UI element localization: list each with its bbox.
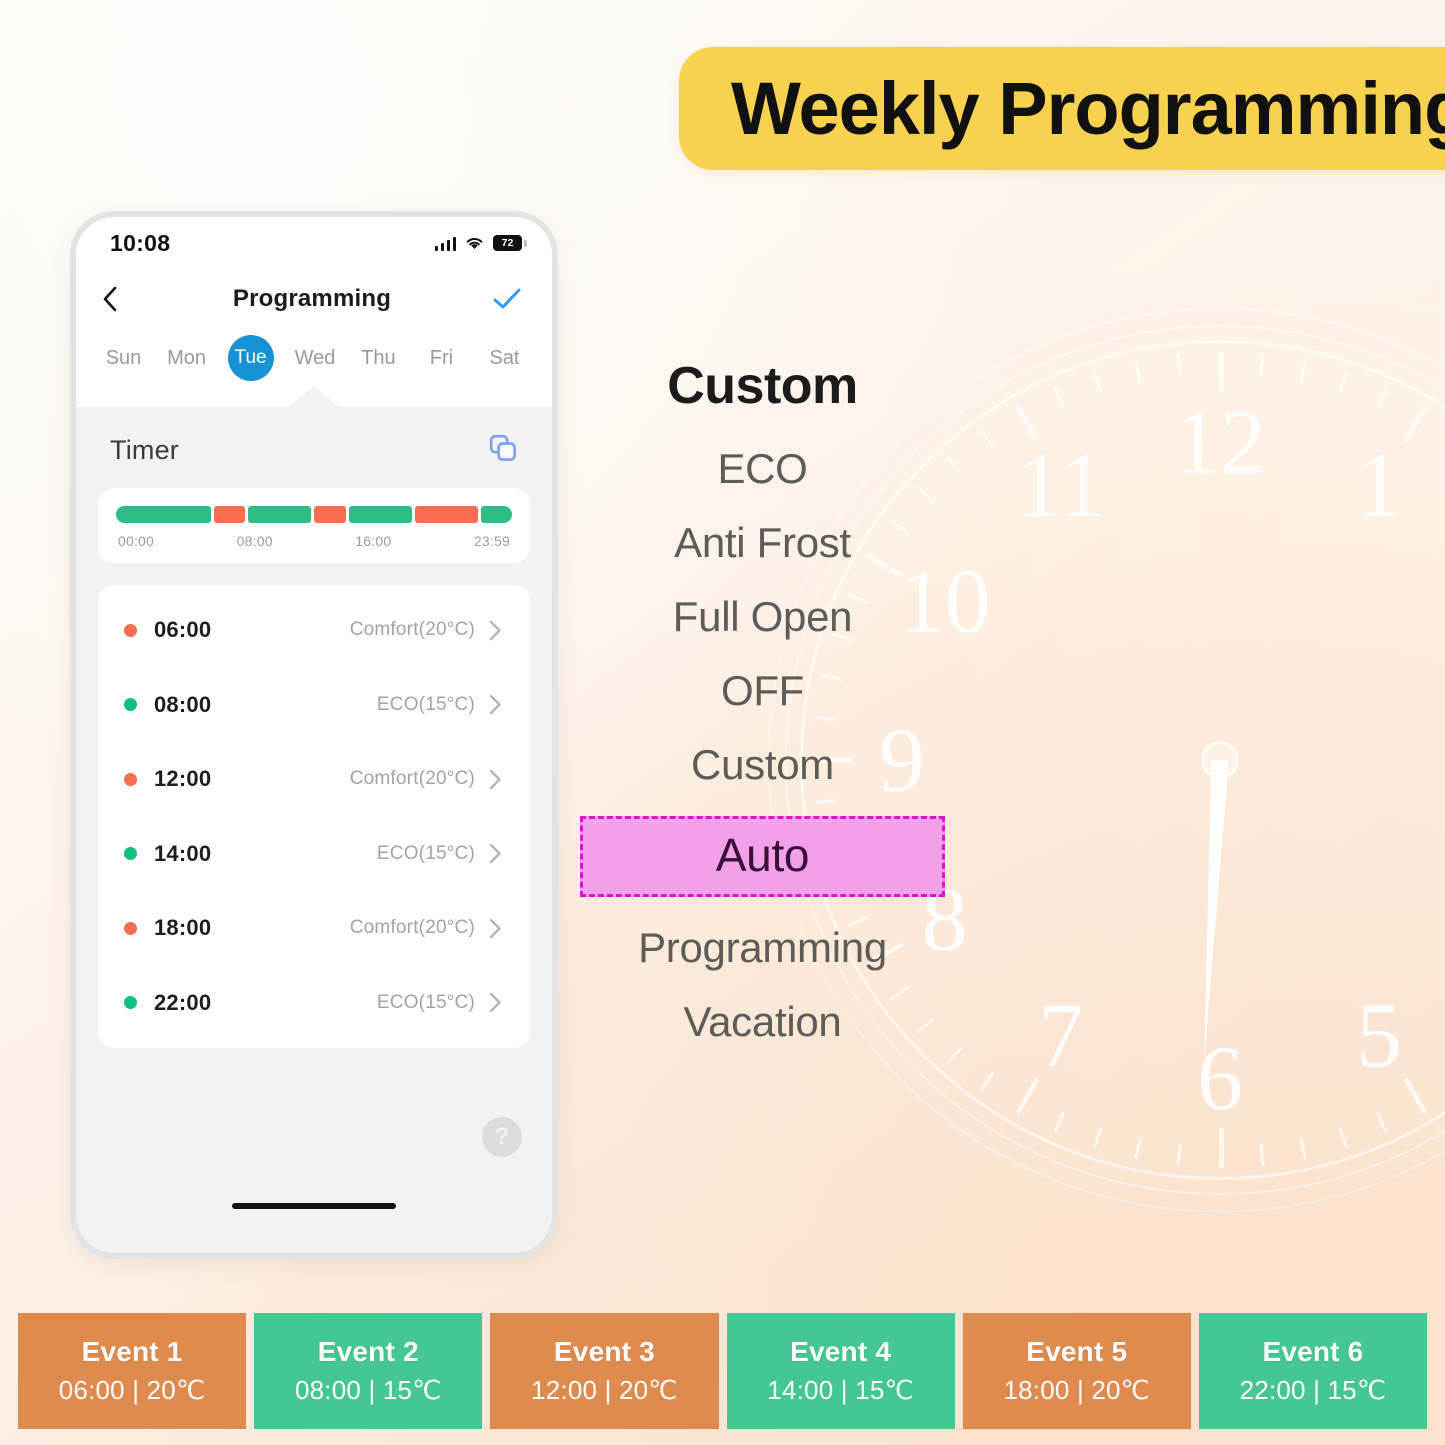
phone-screen: 10:08 72 (76, 217, 552, 1253)
battery-icon: 72 (493, 235, 522, 251)
event-mode: Comfort(20°C) (350, 917, 475, 939)
event-time: 12:00 (154, 766, 211, 792)
event-summary-title: Event 6 (1262, 1336, 1363, 1368)
event-summary-title: Event 3 (554, 1336, 655, 1368)
poster-root: 121234567891011 Weekly Programming 10:08 (0, 0, 1445, 1445)
timeline-segment[interactable] (214, 506, 246, 523)
mode-item-vacation[interactable]: Vacation (560, 985, 965, 1059)
event-row[interactable]: 18:00Comfort(20°C) (98, 891, 530, 966)
event-list[interactable]: 06:00Comfort(20°C)08:00ECO(15°C)12:00Com… (98, 585, 530, 1048)
help-question-icon[interactable]: ? (482, 1117, 522, 1157)
wifi-icon (465, 236, 484, 251)
event-row[interactable]: 08:00ECO(15°C) (98, 668, 530, 743)
event-time: 06:00 (154, 617, 211, 643)
event-mode: Comfort(20°C) (350, 619, 475, 641)
event-time: 08:00 (154, 692, 211, 718)
page-title: Weekly Programming (731, 66, 1445, 151)
event-summary-detail: 22:00 | 15℃ (1240, 1375, 1387, 1406)
event-summary-title: Event 5 (1026, 1336, 1127, 1368)
timeline-segment[interactable] (314, 506, 346, 523)
back-button[interactable] (102, 285, 140, 313)
timer-label: Timer (110, 435, 179, 466)
mode-item-off[interactable]: OFF (560, 654, 965, 728)
event-summary-detail: 12:00 | 20℃ (531, 1375, 678, 1406)
battery-level: 72 (502, 238, 514, 249)
event-summary-detail: 08:00 | 15℃ (295, 1375, 442, 1406)
event-summary-title: Event 1 (82, 1336, 183, 1368)
event-summary-detail: 18:00 | 20℃ (1003, 1375, 1150, 1406)
weekday-mon[interactable]: Mon (165, 343, 209, 374)
timeline-bar[interactable] (116, 506, 512, 523)
event-summary-cell: Event 312:00 | 20℃ (490, 1313, 718, 1429)
chevron-right-icon (489, 620, 502, 641)
weekday-fri[interactable]: Fri (419, 343, 463, 374)
header-banner: Weekly Programming (679, 47, 1445, 170)
mode-item-anti-frost[interactable]: Anti Frost (560, 506, 965, 580)
screen-title: Programming (140, 285, 484, 313)
timeline-segment[interactable] (349, 506, 412, 523)
mode-item-programming[interactable]: Programming (560, 911, 965, 985)
timeline-tick-label: 08:00 (237, 533, 273, 549)
timeline-segment[interactable] (116, 506, 211, 523)
copy-icon (488, 433, 518, 463)
chevron-right-icon (489, 992, 502, 1013)
selected-day-notch (288, 386, 340, 408)
timeline-tick-label: 00:00 (118, 533, 154, 549)
weekday-sun[interactable]: Sun (102, 343, 146, 374)
event-summary-title: Event 2 (318, 1336, 419, 1368)
event-status-dot (124, 996, 137, 1009)
chevron-right-icon (489, 769, 502, 790)
event-row[interactable]: 14:00ECO(15°C) (98, 817, 530, 892)
timeline-segment[interactable] (248, 506, 311, 523)
mode-list-heading: Custom (560, 358, 965, 414)
mode-item-full-open[interactable]: Full Open (560, 580, 965, 654)
event-summary-cell: Event 622:00 | 15℃ (1199, 1313, 1427, 1429)
event-status-dot (124, 624, 137, 637)
timeline-tick-label: 16:00 (355, 533, 391, 549)
mode-list: Custom ECOAnti FrostFull OpenOFFCustomAu… (560, 358, 965, 1059)
timeline-card[interactable]: 00:0008:0016:0023:59 (98, 488, 530, 563)
chevron-right-icon (489, 843, 502, 864)
cellular-signal-icon (435, 235, 457, 251)
timeline-segment[interactable] (481, 506, 513, 523)
event-summary-cell: Event 208:00 | 15℃ (254, 1313, 482, 1429)
chevron-left-icon (102, 285, 118, 313)
event-row[interactable]: 22:00ECO(15°C) (98, 966, 530, 1041)
status-clock: 10:08 (110, 230, 170, 257)
chevron-right-icon (489, 918, 502, 939)
app-navbar: Programming (76, 269, 552, 329)
event-status-dot (124, 773, 137, 786)
timeline-segment[interactable] (415, 506, 478, 523)
event-time: 18:00 (154, 915, 211, 941)
mode-item-custom[interactable]: Custom (560, 728, 965, 802)
status-bar: 10:08 72 (76, 217, 552, 269)
event-mode: ECO(15°C) (377, 694, 475, 716)
event-row[interactable]: 06:00Comfort(20°C) (98, 593, 530, 668)
mode-items[interactable]: ECOAnti FrostFull OpenOFFCustomAutoProgr… (560, 432, 965, 1059)
event-mode: ECO(15°C) (377, 843, 475, 865)
mode-item-eco[interactable]: ECO (560, 432, 965, 506)
event-summary-title: Event 4 (790, 1336, 891, 1368)
event-status-dot (124, 847, 137, 860)
weekday-wed[interactable]: Wed (293, 343, 338, 374)
event-summary-cell: Event 518:00 | 20℃ (963, 1313, 1191, 1429)
mode-item-auto[interactable]: Auto (580, 816, 945, 898)
timeline-ticks: 00:0008:0016:0023:59 (116, 533, 512, 549)
timeline-tick-label: 23:59 (474, 533, 510, 549)
event-summary-cell: Event 106:00 | 20℃ (18, 1313, 246, 1429)
weekday-sat[interactable]: Sat (482, 343, 526, 374)
event-mode: Comfort(20°C) (350, 768, 475, 790)
weekday-tue[interactable]: Tue (228, 335, 274, 381)
phone-mockup: 10:08 72 (70, 211, 558, 1259)
weekday-selector[interactable]: SunMonTueWedThuFriSat (76, 329, 552, 407)
timer-header: Timer (76, 407, 552, 488)
event-mode: ECO(15°C) (377, 992, 475, 1014)
status-indicators: 72 (435, 235, 523, 251)
event-time: 22:00 (154, 990, 211, 1016)
event-status-dot (124, 922, 137, 935)
event-summary-detail: 14:00 | 15℃ (767, 1375, 914, 1406)
event-row[interactable]: 12:00Comfort(20°C) (98, 742, 530, 817)
event-summary-strip: Event 106:00 | 20℃Event 208:00 | 15℃Even… (18, 1313, 1427, 1429)
chevron-right-icon (489, 694, 502, 715)
check-icon (492, 287, 522, 311)
weekday-thu[interactable]: Thu (356, 343, 400, 374)
confirm-button[interactable] (484, 287, 522, 311)
event-summary-cell: Event 414:00 | 15℃ (727, 1313, 955, 1429)
copy-schedule-button[interactable] (488, 433, 518, 468)
event-status-dot (124, 698, 137, 711)
home-indicator (232, 1203, 396, 1209)
event-summary-detail: 06:00 | 20℃ (59, 1375, 206, 1406)
event-time: 14:00 (154, 841, 211, 867)
